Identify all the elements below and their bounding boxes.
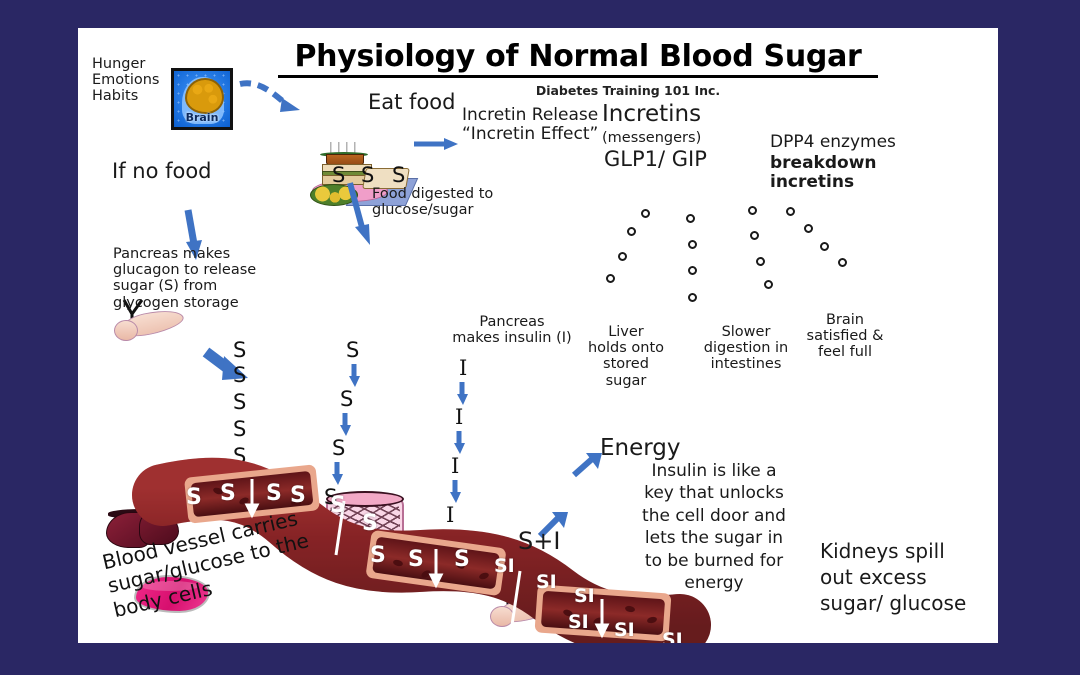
pancreas-head bbox=[114, 320, 138, 341]
sugar-chain-marker: S bbox=[340, 387, 353, 411]
incretin-molecule-icon bbox=[838, 258, 847, 267]
sugar-marker: S bbox=[332, 163, 345, 187]
incretin-molecule-icon bbox=[688, 266, 697, 275]
page-title: Physiology of Normal Blood Sugar bbox=[278, 40, 878, 78]
vessel-sugar-marker: S bbox=[454, 547, 470, 572]
incretin-molecule-icon bbox=[748, 206, 757, 215]
vessel-sugar-marker: S bbox=[220, 481, 236, 506]
arrow-food-to-intestines bbox=[346, 183, 378, 249]
brain-satisfied-caption: Brain satisfied & feel full bbox=[800, 312, 890, 361]
insulin-chain-marker: I bbox=[459, 356, 467, 380]
liver-caption: Liver holds onto stored sugar bbox=[583, 324, 669, 389]
vessel-bound-marker: SI bbox=[614, 619, 635, 641]
insulin-key-explanation: Insulin is like a key that unlocks the c… bbox=[630, 460, 798, 595]
incretin-molecule-icon bbox=[627, 227, 636, 236]
incretins-subtitle: (messengers) bbox=[602, 130, 701, 146]
energy-label: Energy bbox=[600, 436, 681, 462]
brain-icon-top: Brain bbox=[171, 68, 233, 130]
dpp4-label: DPP4 enzymes bbox=[770, 133, 896, 152]
sugar-marker: S bbox=[233, 417, 246, 441]
diagram-panel: Physiology of Normal Blood Sugar Diabete… bbox=[78, 28, 998, 643]
vessel-bound-marker: SI bbox=[662, 629, 683, 643]
eat-food-label: Eat food bbox=[368, 91, 455, 115]
incretin-molecule-icon bbox=[786, 207, 795, 216]
arrow-incretin-release bbox=[414, 136, 460, 152]
incretins-types: GLP1/ GIP bbox=[604, 148, 707, 172]
dpp4-breakdown-label: breakdown incretins bbox=[770, 154, 877, 192]
vessel-sugar-marker: S bbox=[362, 511, 378, 536]
incretin-molecule-icon bbox=[764, 280, 773, 289]
vessel-sugar-marker: S bbox=[330, 493, 346, 518]
kidneys-caption: Kidneys spill out excess sugar/ glucose bbox=[820, 538, 996, 616]
sugar-marker: S bbox=[233, 390, 246, 414]
brain-icon-lobe bbox=[185, 78, 224, 114]
incretin-molecule-icon bbox=[641, 209, 650, 218]
arrow-brain-to-food bbox=[238, 78, 324, 122]
sugar-marker: S bbox=[392, 163, 405, 187]
incretin-molecule-icon bbox=[756, 257, 765, 266]
incretin-molecule-icon bbox=[820, 242, 829, 251]
incretin-release-label: Incretin Release “Incretin Effect” bbox=[462, 106, 598, 144]
sugar-marker: S bbox=[233, 338, 246, 362]
sugar-plus-insulin-label: S+I bbox=[518, 528, 560, 555]
if-no-food-label: If no food bbox=[112, 160, 212, 184]
slower-digestion-caption: Slower digestion in intestines bbox=[700, 324, 792, 373]
vessel-sugar-marker: S bbox=[408, 547, 424, 572]
arrow-cells-to-energy bbox=[572, 451, 606, 479]
incretins-title: Incretins bbox=[602, 102, 701, 128]
incretin-molecule-icon bbox=[618, 252, 627, 261]
arrow-sugar-chain bbox=[339, 413, 353, 437]
incretin-molecule-icon bbox=[606, 274, 615, 283]
incretin-molecule-icon bbox=[688, 293, 697, 302]
vessel-bound-marker: SI bbox=[568, 611, 589, 633]
arrow-insulin-chain bbox=[456, 382, 470, 406]
arrow-sugar-chain bbox=[348, 364, 362, 388]
glucagon-caption: Pancreas makes glucagon to release sugar… bbox=[113, 246, 256, 311]
brain-icon-label: Brain bbox=[174, 111, 230, 124]
vessel-sugar-marker: S bbox=[186, 485, 202, 510]
sugar-marker: S bbox=[233, 363, 246, 387]
food-digested-caption: Food digested to glucose/sugar bbox=[372, 186, 493, 218]
incretin-molecule-icon bbox=[688, 240, 697, 249]
vessel-bound-marker: SI bbox=[574, 585, 595, 607]
sugar-chain-marker: S bbox=[346, 338, 359, 362]
incretin-molecule-icon bbox=[686, 214, 695, 223]
subtitle-attribution: Diabetes Training 101 Inc. bbox=[458, 84, 798, 98]
pancreas-insulin-caption: Pancreas makes insulin (I) bbox=[447, 314, 577, 346]
vessel-sugar-marker: S bbox=[370, 543, 386, 568]
vessel-bound-marker: SI bbox=[536, 571, 557, 593]
vessel-sugar-marker: S bbox=[266, 481, 282, 506]
incretin-molecule-icon bbox=[804, 224, 813, 233]
hunger-emotions-habits-label: Hunger Emotions Habits bbox=[92, 56, 160, 105]
vessel-bound-marker: SI bbox=[494, 555, 515, 577]
insulin-chain-marker: I bbox=[455, 405, 463, 429]
incretin-molecule-icon bbox=[750, 231, 759, 240]
